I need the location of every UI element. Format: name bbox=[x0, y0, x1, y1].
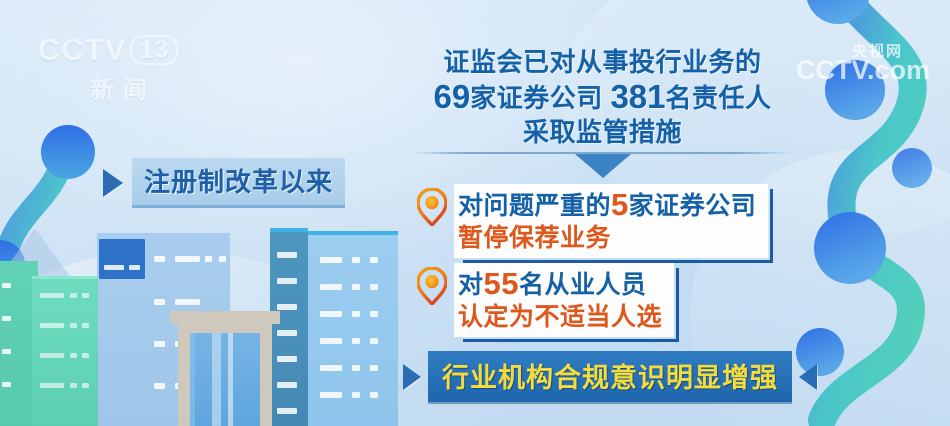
building-blue-tall-right bbox=[308, 231, 398, 426]
bullet-item-1: 对问题严重的5家证券公司 暂停保荐业务 bbox=[417, 184, 768, 258]
headline-line-1: 证监会已对从事投行业务的 bbox=[405, 48, 800, 77]
headline-block: 证监会已对从事投行业务的 69家证券公司 381名责任人 采取监管措施 bbox=[405, 48, 800, 147]
bullet-2-line-2: 认定为不适当人选 bbox=[458, 303, 662, 333]
building-teal-small bbox=[0, 261, 38, 426]
background-wave-left bbox=[0, 250, 380, 426]
triangle-down-icon bbox=[575, 154, 631, 178]
cctv13-channel-watermark: CCTV 13 新闻 bbox=[38, 32, 223, 98]
triangle-left-icon bbox=[799, 364, 817, 390]
channel-number: 13 bbox=[130, 35, 178, 65]
distant-hill-decoration bbox=[0, 206, 150, 276]
city-skyline-illustration bbox=[0, 196, 420, 426]
building-glass-arch bbox=[170, 311, 280, 426]
building-blue-wide bbox=[97, 233, 230, 426]
building-teal-tall bbox=[32, 276, 98, 426]
summary-banner: 行业机构合规意识明显增强 bbox=[403, 351, 817, 402]
cctv-com-watermark: 央视网 CCTV.com bbox=[796, 40, 930, 86]
chapter-label-group: 注册制改革以来 bbox=[103, 158, 345, 208]
headline-line-3: 采取监管措施 bbox=[405, 118, 800, 147]
bullet-card-2: 对55名从业人员 认定为不适当人选 bbox=[454, 263, 674, 337]
headline-line-2: 69家证券公司 381名责任人 bbox=[405, 79, 800, 116]
headline-number-persons: 381 bbox=[610, 78, 665, 115]
triangle-right-icon bbox=[403, 364, 421, 390]
bullet-1-line-1-post: 家证券公司 bbox=[629, 192, 757, 220]
bullet-1-number: 5 bbox=[611, 187, 629, 222]
summary-banner-text: 行业机构合规意识明显增强 bbox=[442, 363, 778, 393]
map-pin-icon bbox=[417, 188, 447, 226]
bullet-2-line-1-pre: 对 bbox=[458, 271, 484, 299]
headline-line-2-end: 名责任人 bbox=[666, 83, 772, 113]
chapter-label-text: 注册制改革以来 bbox=[144, 167, 333, 197]
triangle-right-icon bbox=[103, 169, 123, 197]
bullet-2-line-1: 对55名从业人员 bbox=[458, 266, 662, 303]
map-pin-icon bbox=[417, 267, 447, 305]
infographic-canvas: CCTV 13 新闻 央视网 CCTV.com 注册制改革以来 证监会已对从事投… bbox=[0, 0, 950, 426]
headline-number-companies: 69 bbox=[433, 78, 470, 115]
bullet-1-line-1-pre: 对问题严重的 bbox=[458, 192, 611, 220]
bullet-item-2: 对55名从业人员 认定为不适当人选 bbox=[417, 263, 674, 337]
site-name-en: CCTV.com bbox=[796, 55, 930, 86]
bullet-2-line-1-post: 名从业人员 bbox=[519, 271, 647, 299]
headline-line-2-mid: 家证券公司 bbox=[470, 83, 603, 113]
bullet-card-1: 对问题严重的5家证券公司 暂停保荐业务 bbox=[454, 184, 768, 258]
summary-banner-box: 行业机构合规意识明显增强 bbox=[428, 351, 792, 402]
bullet-1-line-1: 对问题严重的5家证券公司 bbox=[458, 187, 756, 224]
channel-subtitle: 新闻 bbox=[90, 70, 223, 105]
bullet-2-number: 55 bbox=[484, 266, 519, 301]
building-steel-tower bbox=[270, 228, 308, 426]
molecule-chain-left-decoration bbox=[0, 110, 120, 426]
chapter-label-box: 注册制改革以来 bbox=[132, 158, 345, 208]
cctv-logo-text: CCTV bbox=[38, 32, 126, 68]
bullet-1-line-2: 暂停保荐业务 bbox=[458, 224, 756, 254]
